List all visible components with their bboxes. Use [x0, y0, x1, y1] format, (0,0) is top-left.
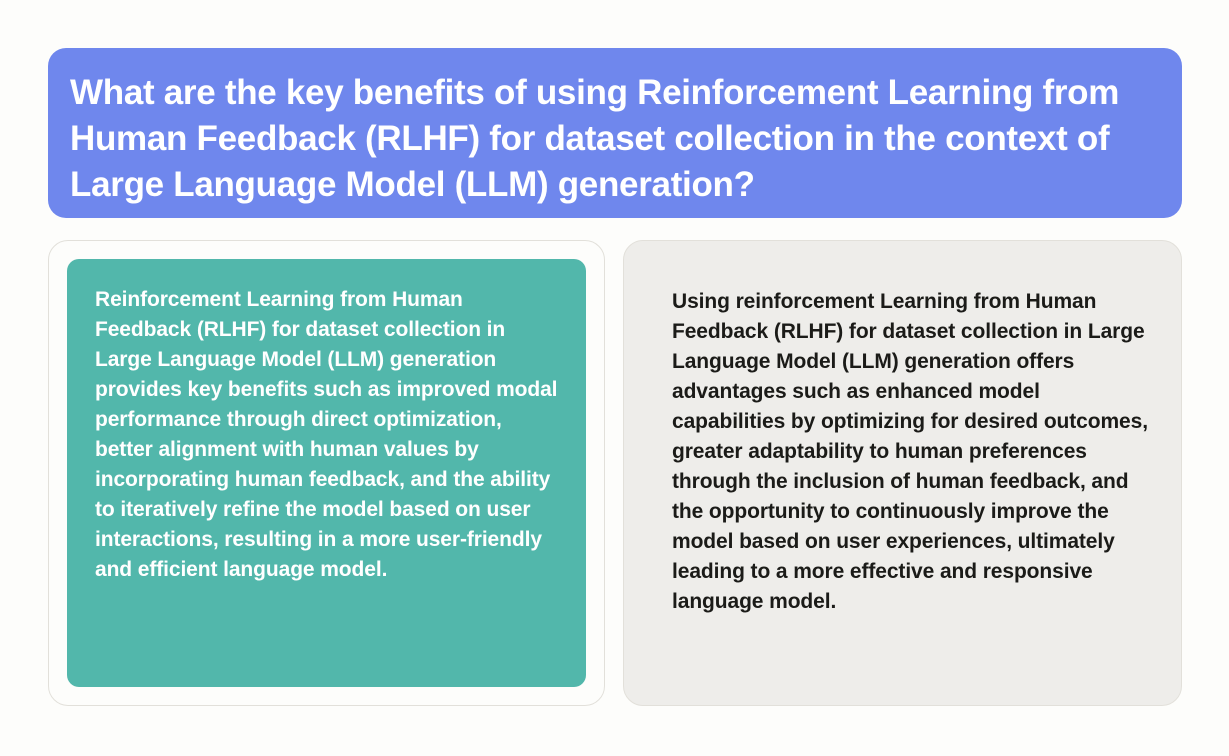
answer-text-right: Using reinforcement Learning from Human …	[672, 287, 1153, 617]
answer-card-left[interactable]: Reinforcement Learning from Human Feedba…	[48, 240, 605, 706]
comparison-page: What are the key benefits of using Reinf…	[0, 0, 1229, 756]
answer-text-left: Reinforcement Learning from Human Feedba…	[95, 285, 562, 585]
answer-panel-left: Reinforcement Learning from Human Feedba…	[67, 259, 586, 687]
question-banner: What are the key benefits of using Reinf…	[48, 48, 1182, 218]
answer-card-right[interactable]: Using reinforcement Learning from Human …	[623, 240, 1182, 706]
answers-row: Reinforcement Learning from Human Feedba…	[48, 240, 1182, 706]
question-text: What are the key benefits of using Reinf…	[70, 70, 1148, 208]
